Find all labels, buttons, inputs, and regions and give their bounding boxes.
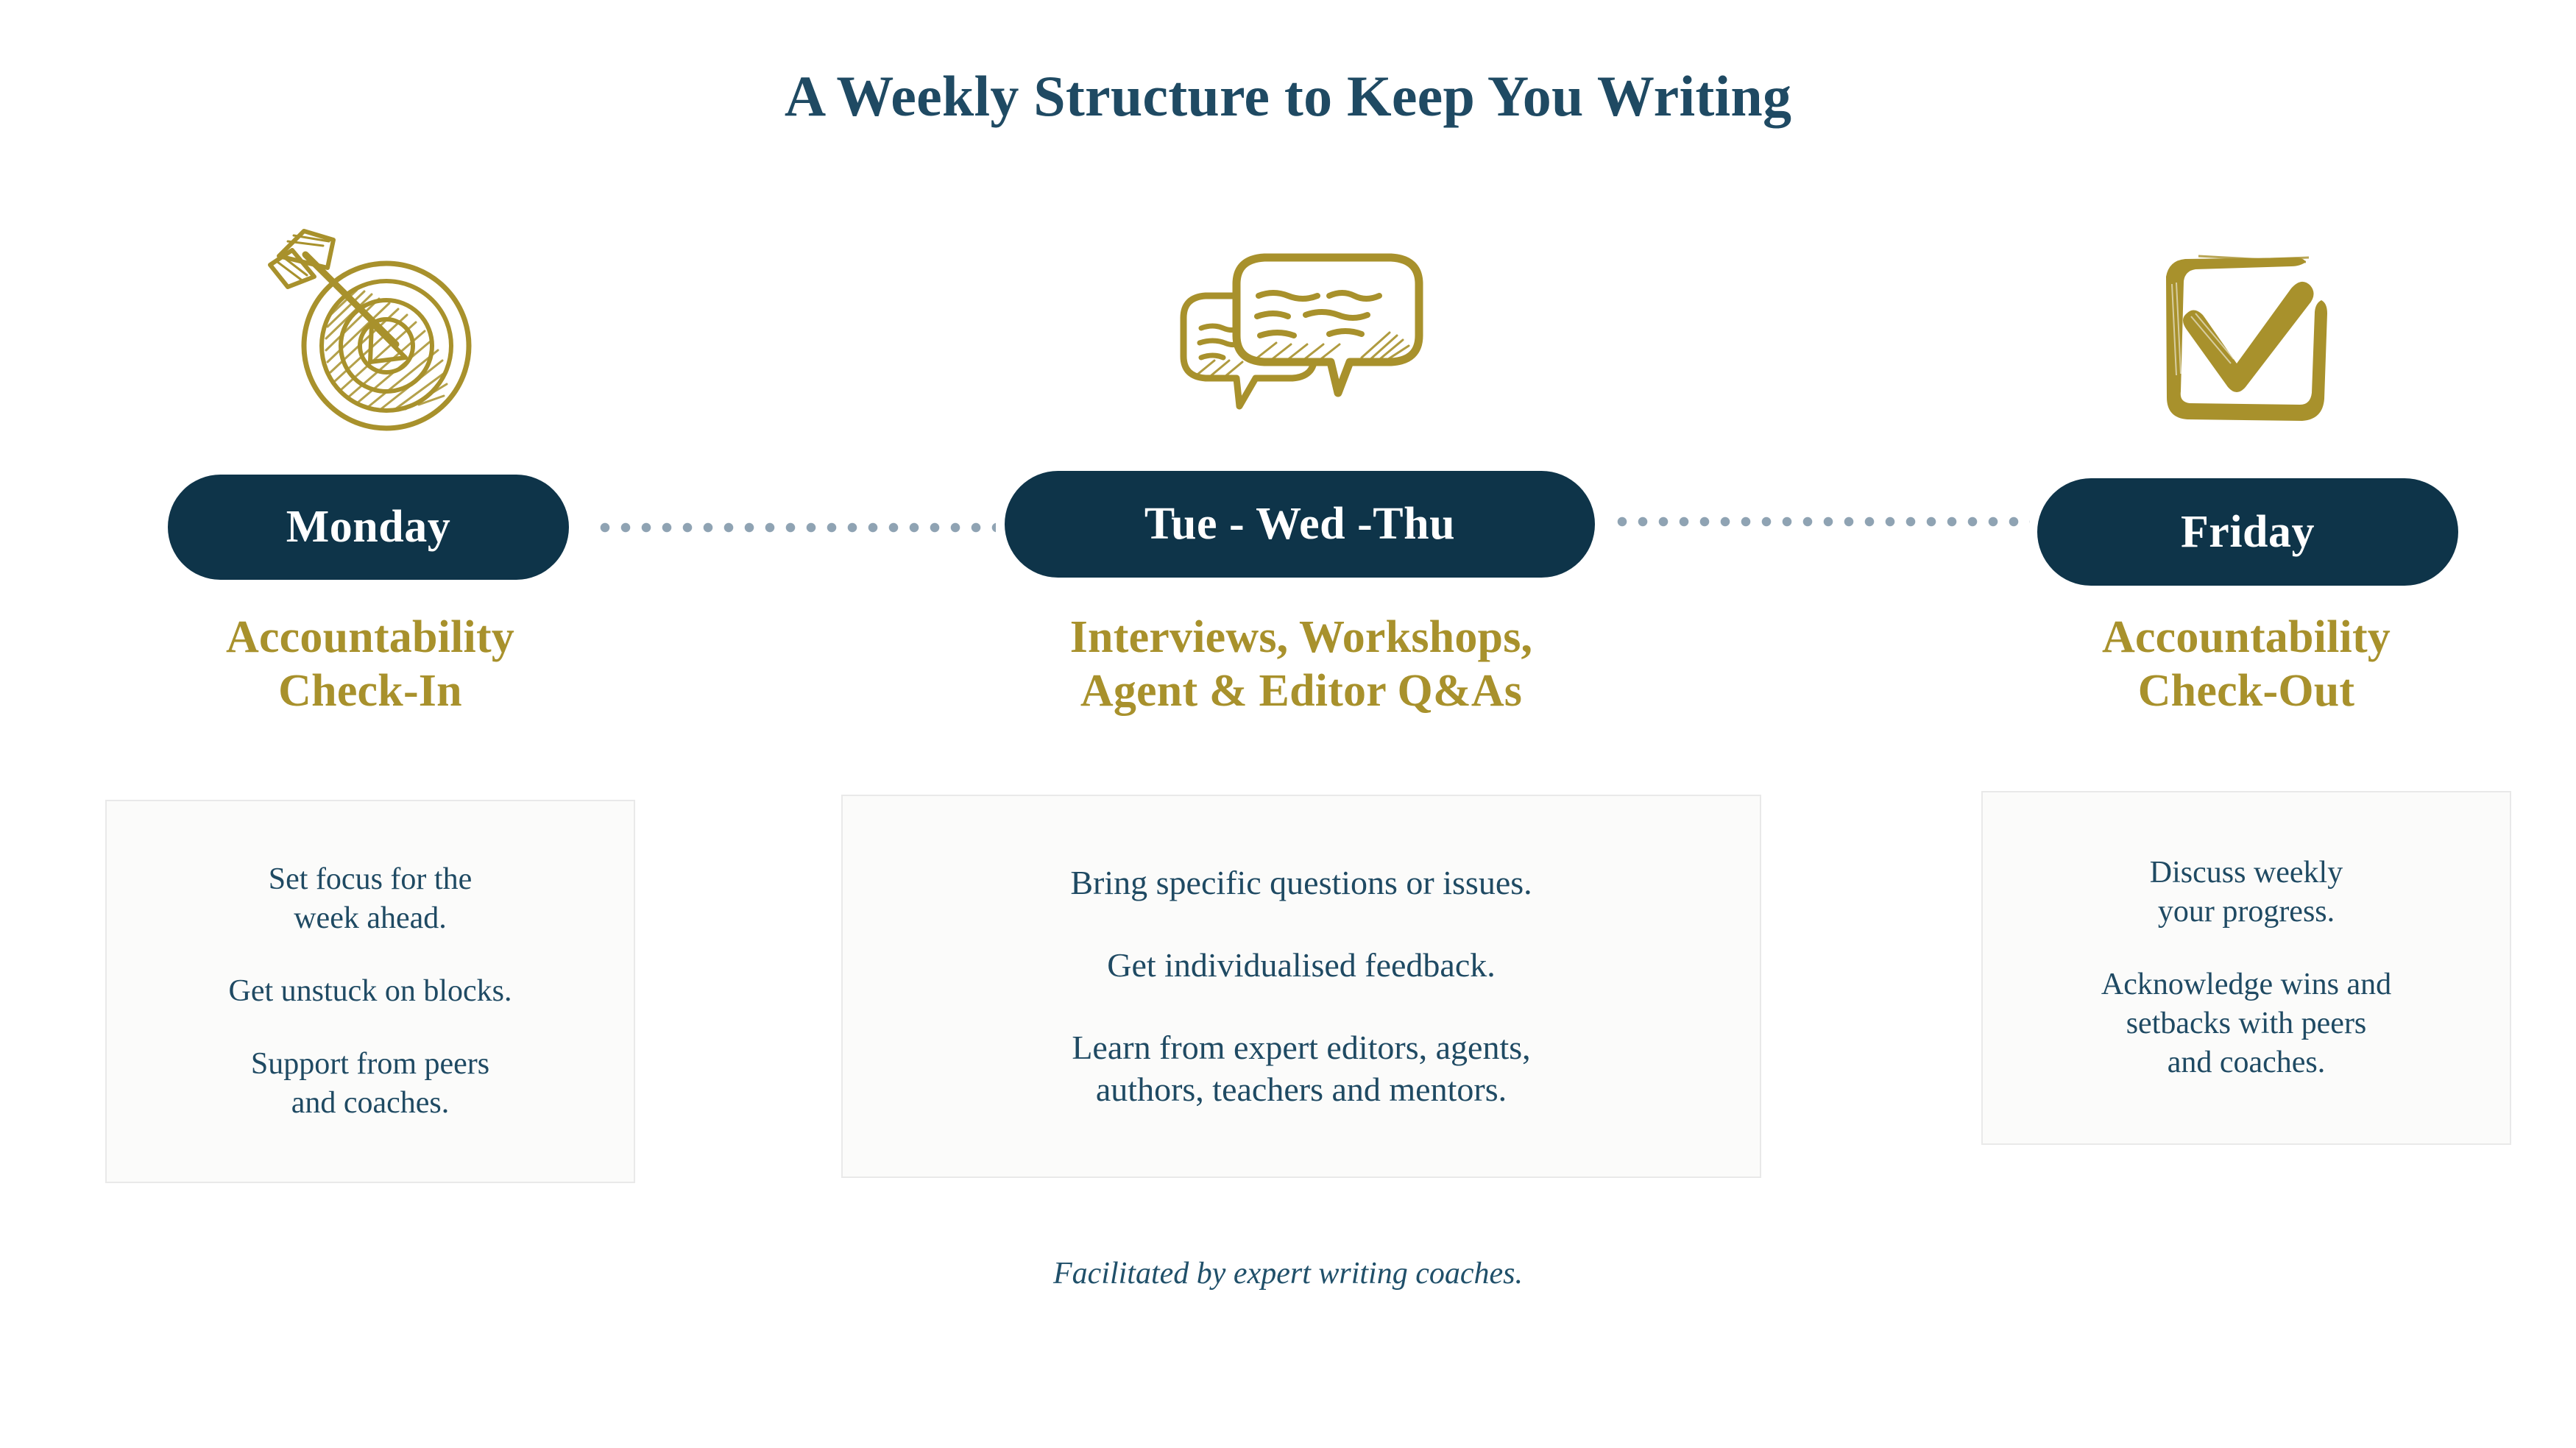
detail-box-friday: Discuss weeklyyour progress. Acknowledge… — [1981, 791, 2511, 1145]
detail-paragraph: Set focus for theweek ahead. — [269, 860, 472, 938]
column-midweek: Tue - Wed -Thu Interviews, Workshops, Ag… — [841, 0, 1761, 1448]
detail-paragraph: Get individualised feedback. — [1107, 944, 1496, 987]
heading-friday-line-1: Accountability — [1981, 611, 2511, 664]
detail-paragraph: Bring specific questions or issues. — [1070, 862, 1532, 904]
column-monday: Monday Accountability Check-In Set focus… — [105, 0, 635, 1448]
detail-paragraph: Acknowledge wins andsetbacks with peersa… — [2101, 965, 2391, 1082]
detail-paragraph: Support from peersand coaches. — [251, 1045, 489, 1123]
detail-paragraph: Discuss weeklyyour progress. — [2150, 853, 2343, 931]
pill-monday-label: Monday — [286, 501, 450, 553]
heading-monday-line-1: Accountability — [105, 611, 635, 664]
heading-midweek: Interviews, Workshops, Agent & Editor Q&… — [841, 611, 1761, 718]
weekly-structure-columns: Monday Accountability Check-In Set focus… — [0, 0, 2576, 1448]
heading-monday: Accountability Check-In — [105, 611, 635, 718]
detail-box-monday: Set focus for theweek ahead. Get unstuck… — [105, 800, 635, 1183]
pill-monday[interactable]: Monday — [168, 475, 569, 580]
heading-midweek-line-1: Interviews, Workshops, — [841, 611, 1761, 664]
heading-friday: Accountability Check-Out — [1981, 611, 2511, 718]
detail-box-midweek: Bring specific questions or issues. Get … — [841, 795, 1761, 1178]
checkbox-tick-icon — [1981, 230, 2511, 422]
heading-midweek-line-2: Agent & Editor Q&As — [841, 664, 1761, 718]
footer-note: Facilitated by expert writing coaches. — [0, 1256, 2576, 1291]
heading-friday-line-2: Check-Out — [1981, 664, 2511, 718]
pill-friday-label: Friday — [2181, 506, 2315, 558]
pill-midweek-label: Tue - Wed -Thu — [1144, 498, 1455, 550]
connector-midweek-to-friday — [1612, 517, 2030, 527]
pill-friday[interactable]: Friday — [2037, 478, 2458, 586]
column-friday: Friday Accountability Check-Out Discuss … — [1981, 0, 2511, 1448]
target-arrow-icon — [105, 212, 635, 433]
heading-monday-line-2: Check-In — [105, 664, 635, 718]
pill-midweek[interactable]: Tue - Wed -Thu — [1005, 471, 1595, 578]
detail-paragraph: Learn from expert editors, agents,author… — [1072, 1026, 1530, 1112]
connector-monday-to-midweek — [595, 522, 996, 533]
speech-bubbles-icon — [841, 234, 1761, 427]
detail-paragraph: Get unstuck on blocks. — [229, 972, 512, 1011]
